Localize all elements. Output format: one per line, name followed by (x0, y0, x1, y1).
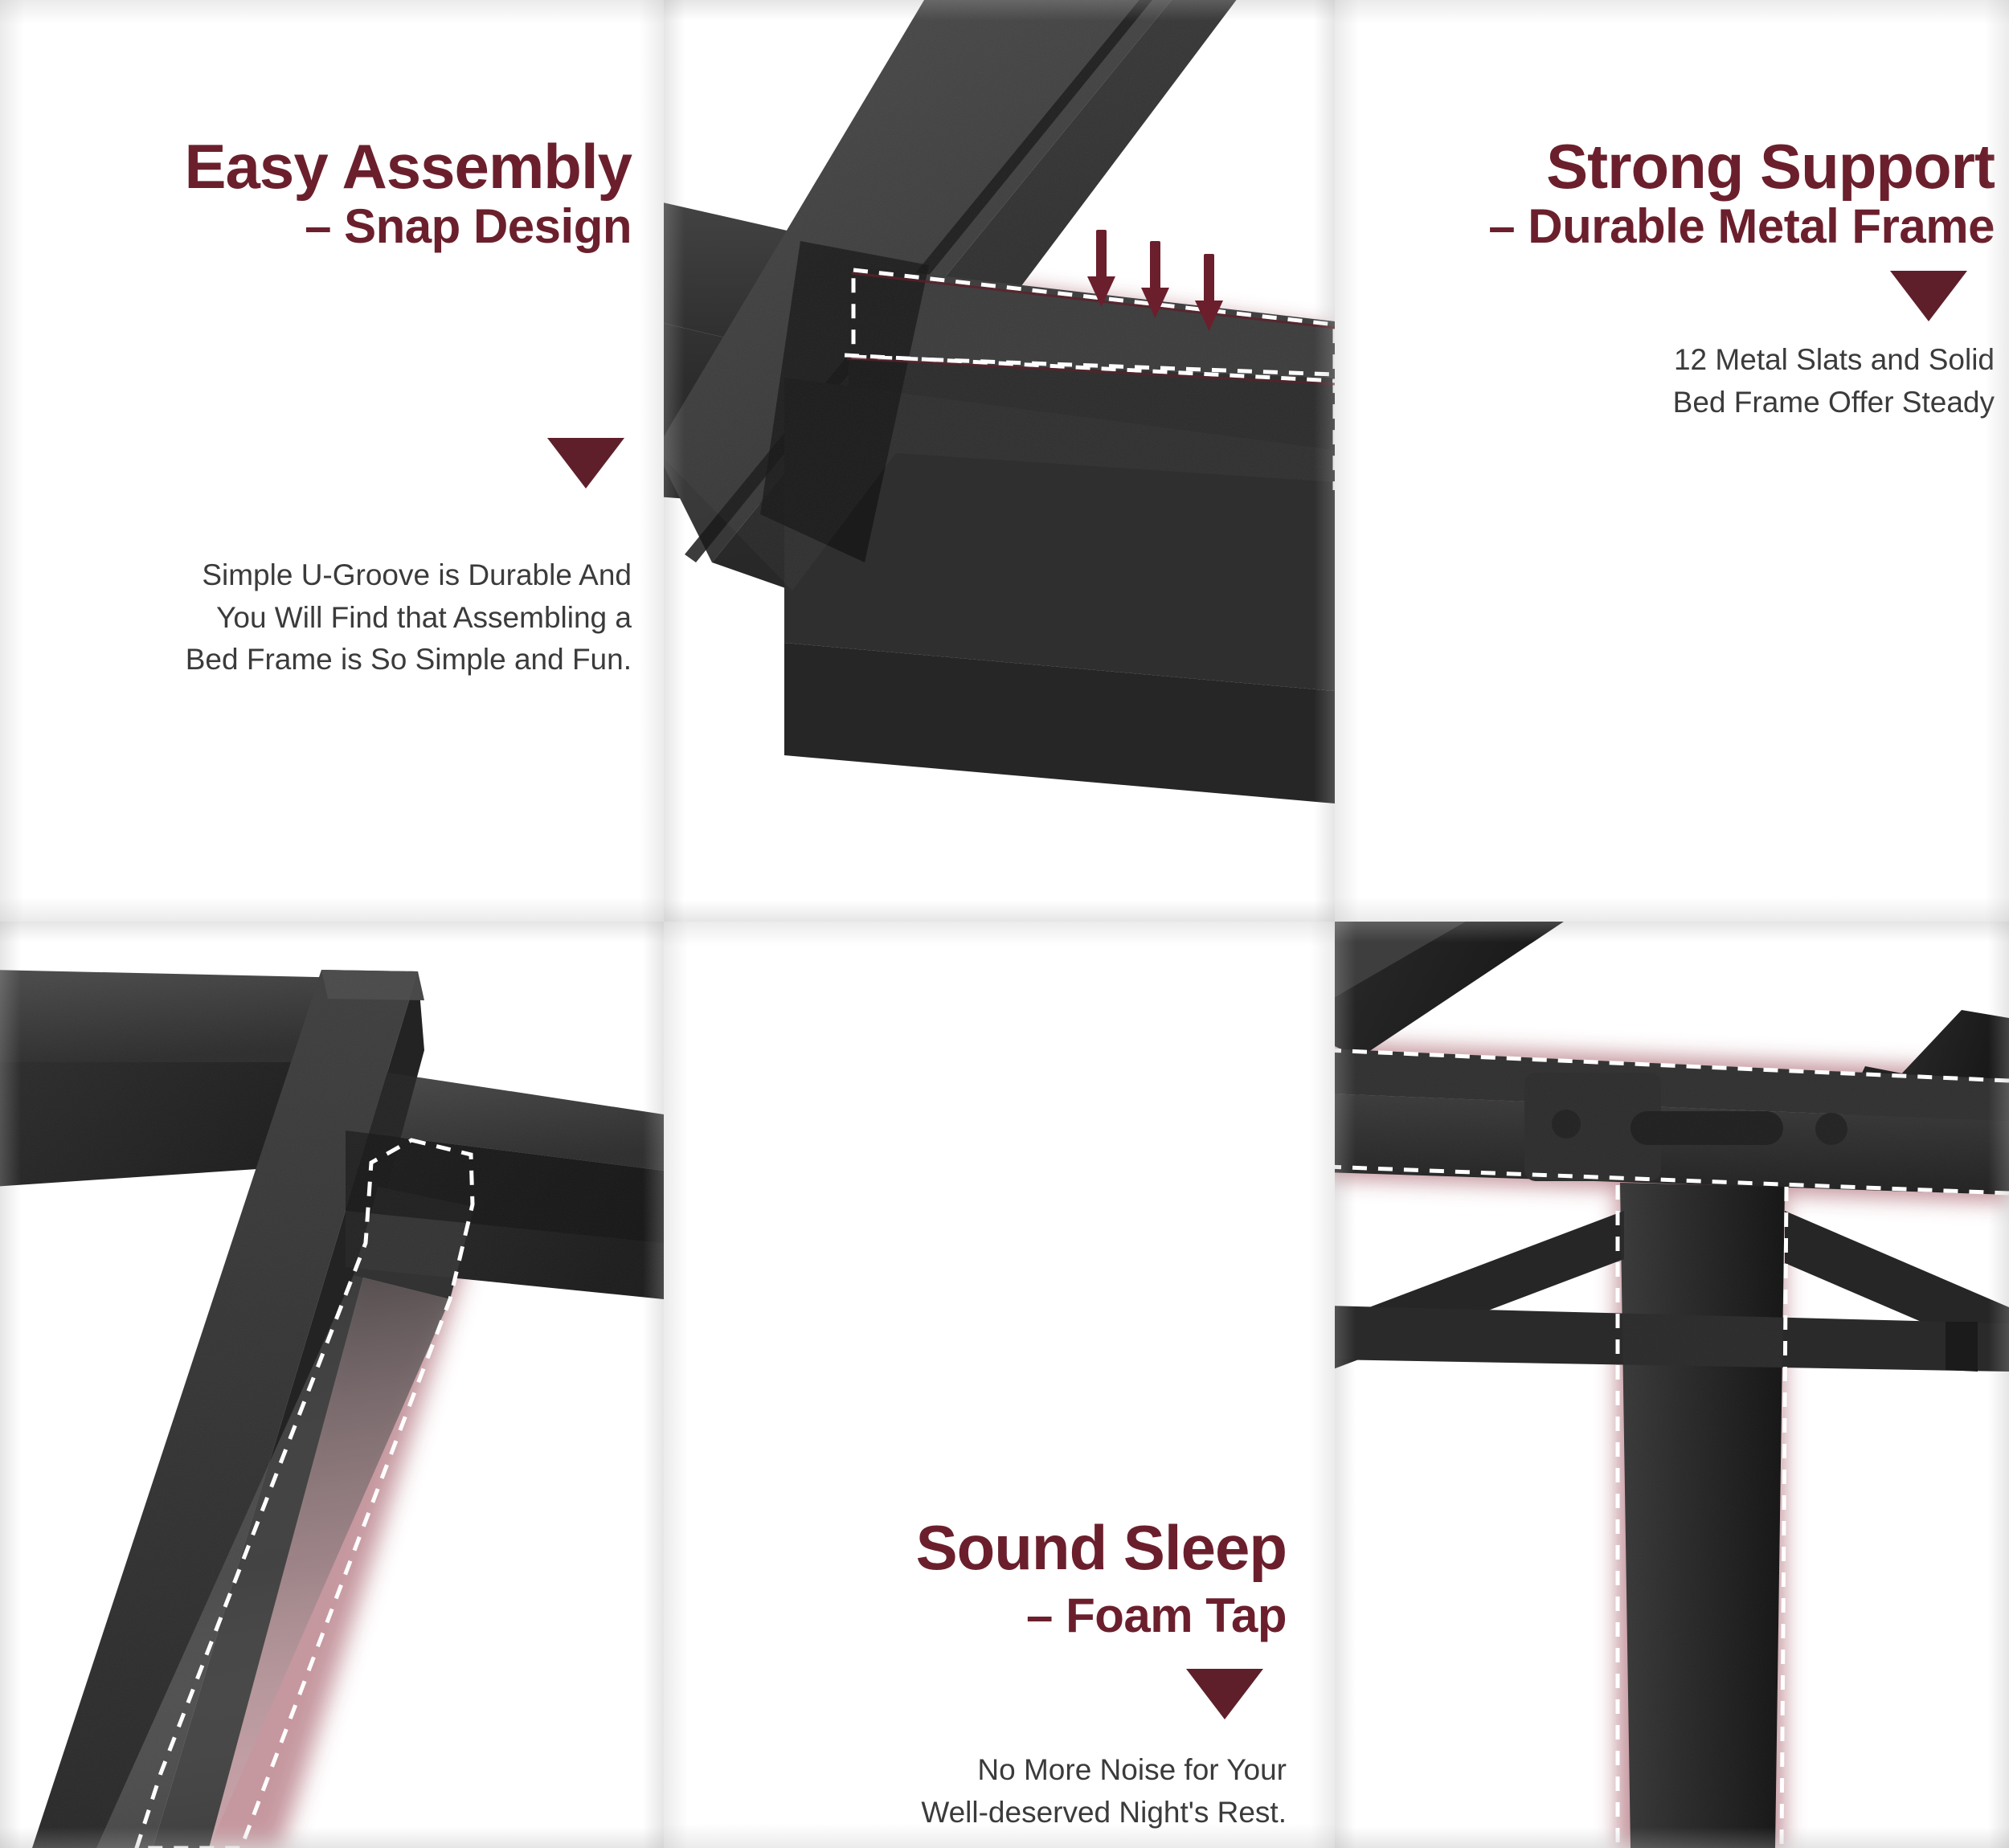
u-groove-illustration (664, 0, 1335, 922)
panel-title-easy-assembly: Easy Assembly (32, 135, 632, 199)
panel-body-easy-assembly: Simple U-Groove is Durable And You Will … (32, 554, 632, 681)
down-triangle-icon (547, 438, 624, 489)
u-groove-svg (664, 0, 1335, 922)
panel-subtitle-strong-support: – Durable Metal Frame (1360, 201, 1995, 251)
panel-title-sound-sleep: Sound Sleep (688, 1516, 1287, 1580)
panel-frame-joint-photo (1335, 922, 2009, 1848)
panel-body-sound-sleep: No More Noise for Your Well-deserved Nig… (688, 1749, 1287, 1834)
frame-joint-svg (1335, 922, 2009, 1848)
panel-subtitle-easy-assembly: – Snap Design (32, 201, 632, 251)
panel-strong-support: Strong Support – Durable Metal Frame 12 … (1335, 0, 2009, 922)
down-triangle-icon (1186, 1669, 1263, 1719)
panel-snap-joint-photo (0, 922, 664, 1848)
panel-subtitle-sound-sleep: – Foam Tap (688, 1590, 1287, 1641)
panel-easy-assembly: Easy Assembly – Snap Design Simple U-Gro… (0, 0, 664, 922)
snap-joint-svg (0, 922, 664, 1848)
panel-sound-sleep: Sound Sleep – Foam Tap No More Noise for… (664, 922, 1335, 1848)
down-triangle-icon (1890, 271, 1967, 321)
snap-joint-illustration (0, 922, 664, 1848)
infographic-grid: Easy Assembly – Snap Design Simple U-Gro… (0, 0, 2009, 1848)
frame-joint-illustration (1335, 922, 2009, 1848)
panel-title-strong-support: Strong Support (1360, 135, 1995, 199)
panel-body-strong-support: 12 Metal Slats and Solid Bed Frame Offer… (1360, 339, 1995, 423)
panel-u-groove-photo (664, 0, 1335, 922)
